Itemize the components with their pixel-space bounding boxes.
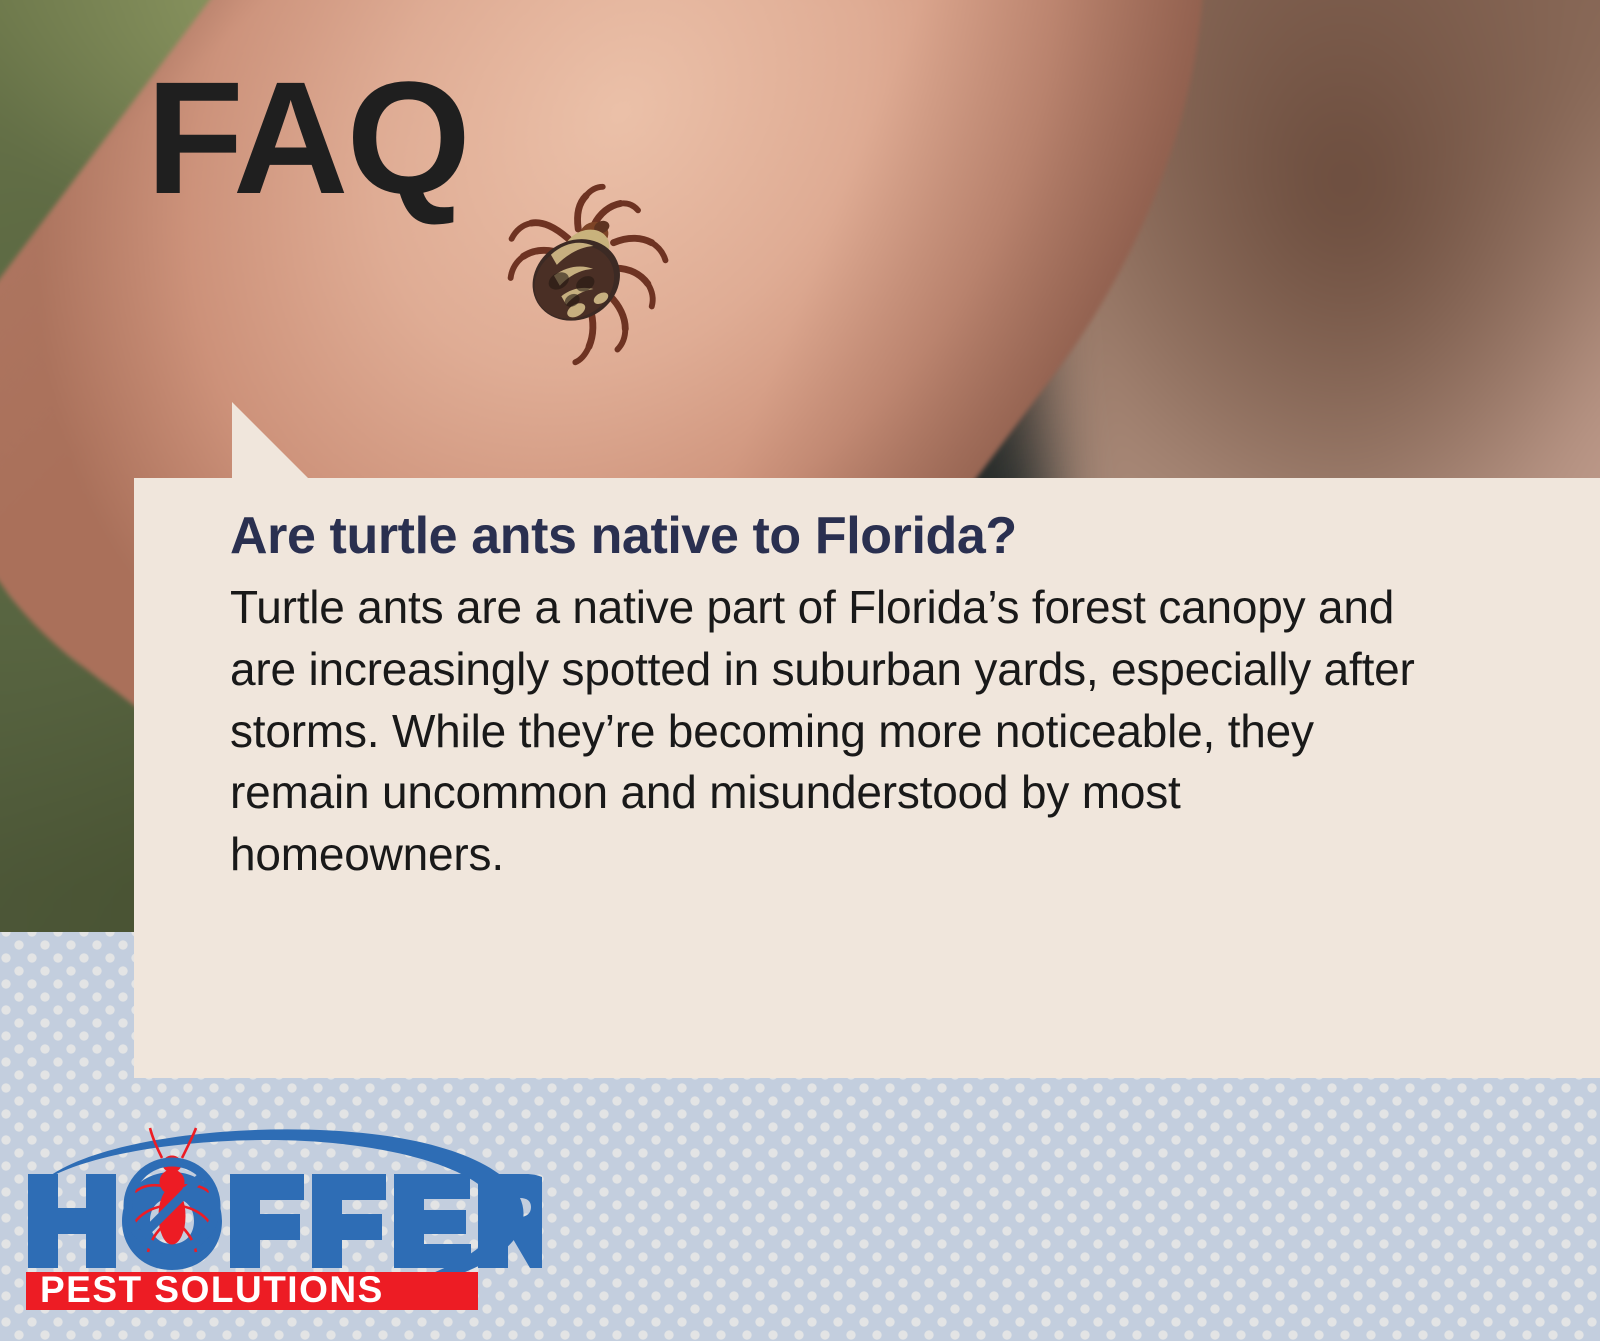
faq-answer-card-content: Are turtle ants native to Florida? Turtl… bbox=[230, 506, 1450, 885]
faq-answer-card: Are turtle ants native to Florida? Turtl… bbox=[134, 478, 1600, 1078]
logo-tagline: PEST SOLUTIONS bbox=[40, 1269, 384, 1310]
faq-question: Are turtle ants native to Florida? bbox=[230, 506, 1450, 567]
logo-wordmark bbox=[28, 1172, 542, 1270]
faq-answer: Turtle ants are a native part of Florida… bbox=[230, 577, 1450, 885]
tick-icon bbox=[492, 178, 688, 374]
hoffer-pest-solutions-logo[interactable]: PEST SOLUTIONS bbox=[22, 1112, 542, 1312]
faq-social-card: FAQ Are turtle ants native to Florida? T… bbox=[0, 0, 1600, 1341]
card-speech-tail bbox=[232, 402, 308, 478]
page-title: FAQ bbox=[146, 58, 469, 218]
